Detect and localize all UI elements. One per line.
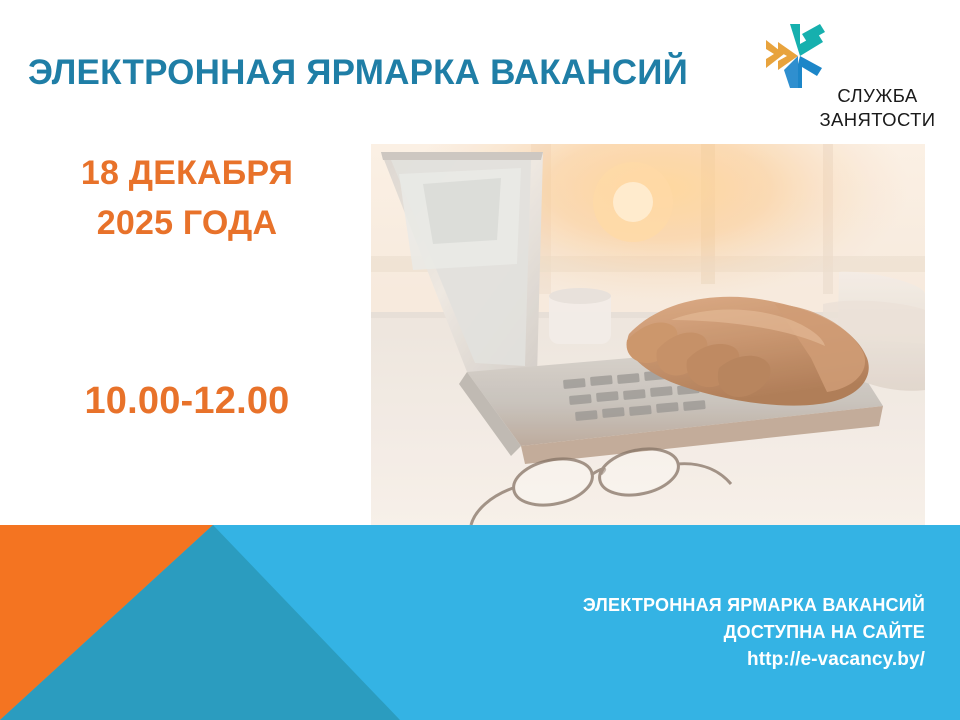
logo-wordmark: СЛУЖБА ЗАНЯТОСТИ — [810, 84, 945, 132]
logo-line-1: СЛУЖБА — [810, 84, 945, 108]
employment-service-star-logo-icon — [760, 18, 840, 94]
banner-website-url[interactable]: http://e-vacancy.by/ — [405, 646, 925, 673]
banner-line-1: ЭЛЕКТРОННАЯ ЯРМАРКА ВАКАНСИЙ — [405, 592, 925, 619]
laptop-typing-photo — [371, 144, 925, 525]
event-date-line-1: 18 ДЕКАБРЯ — [22, 148, 352, 198]
banner-line-2: ДОСТУПНА НА САЙТЕ — [405, 619, 925, 646]
employment-service-logo: СЛУЖБА ЗАНЯТОСТИ — [760, 18, 945, 138]
event-time: 10.00-12.00 — [22, 378, 352, 424]
event-date-line-2: 2025 ГОДА — [22, 198, 352, 248]
poster-canvas: ЭЛЕКТРОННАЯ ЯРМАРКА ВАКАНСИЙ СЛУЖБА ЗАНЯ… — [0, 0, 960, 720]
event-date: 18 ДЕКАБРЯ 2025 ГОДА — [22, 148, 352, 248]
banner-message: ЭЛЕКТРОННАЯ ЯРМАРКА ВАКАНСИЙ ДОСТУПНА НА… — [405, 592, 925, 673]
page-title: ЭЛЕКТРОННАЯ ЯРМАРКА ВАКАНСИЙ — [28, 52, 748, 94]
logo-line-2: ЗАНЯТОСТИ — [810, 108, 945, 132]
